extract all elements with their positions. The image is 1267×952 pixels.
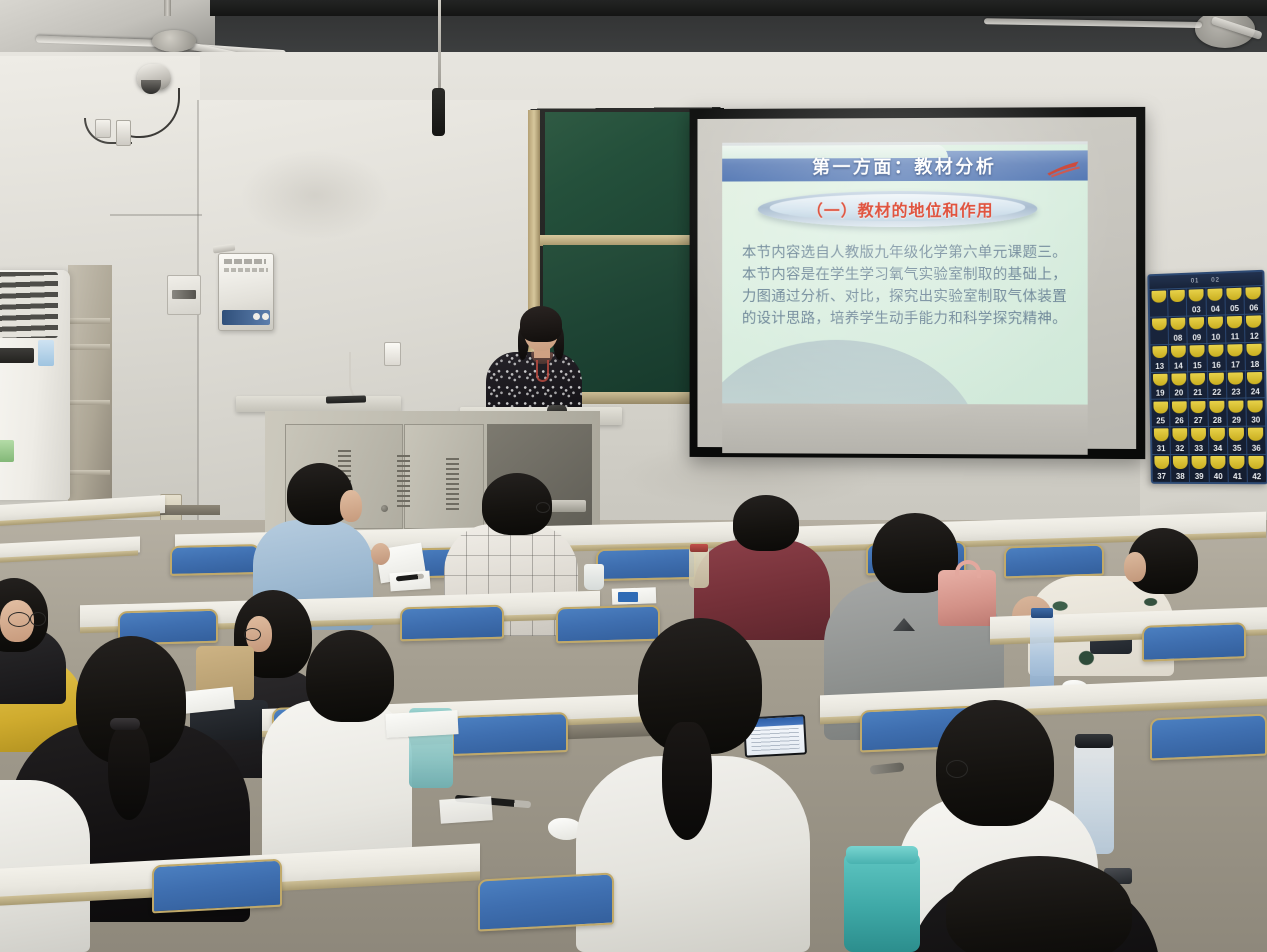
panel-body-text	[224, 268, 268, 272]
ac-energy-label	[38, 340, 54, 366]
screen-pull-handle[interactable]	[432, 88, 445, 136]
auditorium-seat[interactable]	[596, 547, 696, 581]
pocket-cell[interactable]: 04	[1206, 287, 1226, 315]
pocket-cell[interactable]: 18	[1245, 342, 1264, 370]
pocket-icon	[1189, 289, 1204, 302]
pocket-cell[interactable]: 27	[1189, 399, 1208, 426]
pocket-number: 24	[1251, 388, 1260, 398]
student-hair	[733, 495, 799, 551]
wall-junction-box	[116, 120, 131, 146]
pink-handbag[interactable]	[938, 570, 996, 626]
slide-body-text: 本节内容选自人教版九年级化学第六单元课题三。 本节内容是在学生学习氧气实验室制取…	[742, 242, 1074, 331]
panel-indicator-dot	[262, 313, 269, 320]
pocket-icon	[1208, 316, 1223, 329]
auditorium-seat[interactable]	[1150, 714, 1267, 761]
pocket-number: 12	[1250, 331, 1259, 341]
pocket-number: 37	[1157, 472, 1166, 482]
pocket-number: 03	[1192, 305, 1201, 315]
auditorium-seat[interactable]	[1004, 544, 1104, 579]
pocket-number: 28	[1213, 416, 1222, 426]
pocket-icon	[1227, 288, 1242, 301]
podium-remote[interactable]	[326, 395, 366, 403]
pocket-chart-row: 25 26 27 28 29 30	[1151, 398, 1265, 427]
pocket-icon	[1247, 372, 1262, 385]
pocket-icon	[1208, 288, 1223, 301]
screen-lower-blank	[722, 403, 1087, 454]
pocket-number: 30	[1251, 416, 1260, 426]
pocket-cell[interactable]: 11	[1226, 315, 1246, 343]
pocket-icon	[1152, 318, 1167, 331]
pocket-icon	[1229, 428, 1244, 441]
pocket-cell[interactable]: 39	[1190, 455, 1209, 482]
pocket-number: 33	[1194, 444, 1203, 454]
eyeglasses-icon	[946, 760, 968, 778]
pocket-number: 09	[1192, 333, 1201, 343]
pocket-cell[interactable]: 28	[1208, 399, 1228, 426]
pocket-number: 05	[1230, 304, 1239, 314]
bottle-cap	[690, 544, 708, 552]
pocket-number: 27	[1194, 416, 1203, 426]
slide-body-line: 本节内容是在学生学习氧气实验室制取的基础上，	[742, 264, 1074, 286]
student-hair	[306, 630, 394, 722]
slide-subtitle-group: （一）教材的地位和作用	[758, 187, 1038, 230]
pocket-number: 23	[1231, 388, 1240, 398]
student-head	[1124, 552, 1146, 582]
pocket-icon	[1190, 373, 1205, 386]
pocket-icon	[1154, 429, 1169, 441]
pocket-number: 41	[1233, 472, 1242, 482]
pocket-cell[interactable]: 24	[1246, 370, 1265, 397]
pocket-cell[interactable]: 19	[1151, 372, 1170, 399]
pocket-cell[interactable]	[1150, 317, 1169, 344]
auditorium-seat[interactable]	[556, 605, 660, 644]
pocket-cell[interactable]: 35	[1227, 427, 1247, 454]
pocket-cell[interactable]: 12	[1245, 314, 1264, 342]
pocket-cell[interactable]: 30	[1246, 399, 1265, 426]
podium-side-surface	[236, 396, 401, 412]
pocket-icon	[1209, 372, 1224, 385]
phone-pocket-chart: 01 02 03 04 05 06 08 09 10 11 12 13 14 1…	[1147, 270, 1267, 485]
pocket-icon	[1209, 344, 1224, 357]
slide-body-line: 本节内容选自人教版九年级化学第六单元课题三。	[742, 242, 1074, 264]
slide-swoosh-icon	[1045, 159, 1081, 177]
pocket-cell[interactable]: 09	[1187, 316, 1206, 343]
pocket-number: 15	[1193, 361, 1202, 371]
pocket-icon	[1191, 401, 1206, 413]
recess-shelf	[70, 318, 110, 324]
pocket-chart-row: 19 20 21 22 23 24	[1151, 369, 1265, 399]
water-bottle[interactable]	[689, 548, 709, 588]
auditorium-seat[interactable]	[452, 712, 568, 756]
pocket-icon	[1189, 317, 1204, 330]
pocket-cell[interactable]: 15	[1188, 344, 1207, 371]
podium-vent-icon	[446, 458, 459, 510]
slide-subtitle: （一）教材的地位和作用	[776, 197, 1026, 221]
pocket-icon	[1154, 456, 1169, 468]
pocket-number: 10	[1211, 332, 1220, 342]
pocket-icon	[1228, 344, 1243, 357]
pocket-icon	[1153, 401, 1168, 413]
student-hand	[371, 543, 390, 565]
auditorium-seat[interactable]	[400, 605, 504, 642]
pocket-icon	[1190, 345, 1205, 358]
pocket-cell[interactable]: 34	[1208, 427, 1228, 454]
pocket-cell[interactable]: 41	[1228, 455, 1248, 482]
wall-seam	[110, 214, 202, 216]
pocket-icon	[1172, 429, 1187, 441]
pocket-number: 19	[1156, 389, 1165, 399]
pocket-chart-row: 08 09 10 11 12	[1150, 313, 1264, 344]
pocket-icon	[1210, 428, 1225, 440]
presenter-lanyard	[536, 360, 549, 382]
ac-grille-icon	[0, 272, 58, 338]
pocket-cell[interactable]: 13	[1151, 345, 1170, 372]
eyeglasses-icon	[244, 628, 261, 641]
paper-handout[interactable]	[439, 796, 493, 824]
pocket-icon	[1170, 290, 1185, 303]
pocket-chart-row: 31 32 33 34 35 36	[1152, 426, 1266, 454]
teal-thermos[interactable]	[844, 852, 920, 952]
auditorium-seat[interactable]	[170, 544, 260, 576]
pocket-number: 17	[1231, 360, 1240, 370]
pocket-chart-header-mark: 02	[1211, 277, 1220, 283]
slide-body-line: 力图通过分析、对比，探究出实验室制取气体装置	[742, 286, 1074, 308]
pocket-icon	[1152, 346, 1167, 359]
podium-lock[interactable]	[381, 505, 388, 512]
pocket-number: 34	[1213, 444, 1222, 454]
pocket-icon	[1247, 343, 1262, 356]
pocket-icon	[1192, 456, 1207, 468]
eyeglasses-icon	[30, 612, 46, 626]
pocket-number: 26	[1175, 417, 1184, 427]
pocket-number: 31	[1157, 444, 1166, 454]
pocket-number: 04	[1211, 304, 1220, 314]
pocket-cell[interactable]: 36	[1247, 427, 1266, 454]
pocket-icon	[1230, 456, 1245, 468]
auditorium-seat[interactable]	[1142, 622, 1246, 662]
classroom-photo: 第一方面：教材分析 （一）教材的地位和作用 本节内容选自人教版九年级化学第六单元…	[0, 0, 1267, 952]
pocket-cell[interactable]	[1168, 289, 1187, 316]
slide-title-bar: 第一方面：教材分析	[722, 150, 1087, 181]
pocket-number: 36	[1252, 444, 1261, 454]
screen-housing	[210, 0, 1267, 16]
pocket-number: 39	[1195, 472, 1204, 482]
bottle-cap	[1075, 734, 1113, 748]
blackboard-surface-upper	[545, 112, 713, 236]
pocket-icon	[1228, 372, 1243, 385]
projection-screen: 第一方面：教材分析 （一）教材的地位和作用 本节内容选自人教版九年级化学第六单元…	[690, 107, 1146, 459]
pocket-cell[interactable]: 14	[1169, 344, 1188, 371]
podium-vent-icon	[397, 455, 410, 509]
wall-switch-row[interactable]	[172, 290, 196, 299]
auditorium-seat[interactable]	[152, 859, 282, 914]
pocket-cell[interactable]: 16	[1207, 343, 1227, 370]
slide-decorative-curve	[722, 340, 981, 405]
pocket-number: 40	[1214, 472, 1223, 482]
panel-indicator-dot	[253, 313, 260, 320]
pocket-cell[interactable]: 42	[1247, 455, 1266, 482]
hair-tie-icon	[110, 718, 140, 730]
slide-title: 第一方面：教材分析	[812, 153, 996, 180]
pocket-icon	[1248, 400, 1263, 413]
pocket-icon	[1171, 373, 1186, 386]
paper-handout[interactable]	[389, 571, 430, 592]
pocket-icon	[1191, 428, 1206, 440]
pocket-cell[interactable]	[1150, 289, 1169, 316]
pocket-number: 13	[1155, 361, 1164, 371]
pocket-cell[interactable]: 06	[1244, 286, 1263, 314]
auditorium-seat[interactable]	[478, 872, 614, 931]
pocket-cell[interactable]: 33	[1189, 427, 1208, 454]
pocket-icon	[1173, 456, 1188, 468]
pocket-cell[interactable]: 31	[1152, 428, 1171, 455]
pocket-icon	[1227, 316, 1242, 329]
pocket-icon	[1210, 456, 1225, 468]
paper-handout[interactable]	[385, 710, 458, 738]
pocket-icon	[1171, 345, 1186, 358]
pocket-cell[interactable]: 37	[1152, 455, 1171, 482]
pocket-chart-row: 37 38 39 40 41 42	[1152, 454, 1266, 482]
pocket-cell[interactable]: 03	[1187, 288, 1206, 315]
wall-smudge	[240, 150, 390, 240]
screen-pull-cord[interactable]	[438, 0, 441, 92]
pocket-icon	[1170, 318, 1185, 331]
pocket-icon	[1246, 287, 1261, 300]
pocket-number: 35	[1232, 444, 1241, 454]
pocket-number: 11	[1231, 332, 1240, 342]
pocket-number: 21	[1193, 389, 1202, 399]
pocket-icon	[1151, 291, 1166, 304]
pocket-number: 22	[1212, 388, 1221, 398]
wall-socket[interactable]	[95, 119, 111, 138]
pocket-number: 08	[1173, 333, 1182, 343]
bottle-cap	[1031, 608, 1053, 618]
eyeglasses-icon	[8, 612, 30, 627]
slide-content: 第一方面：教材分析 （一）教材的地位和作用 本节内容选自人教版九年级化学第六单元…	[722, 144, 1087, 404]
podium-door-right[interactable]	[404, 424, 484, 529]
pocket-icon	[1248, 428, 1263, 441]
recess-shelf	[70, 344, 110, 350]
pocket-cell[interactable]: 29	[1227, 399, 1247, 426]
pocket-number: 25	[1156, 417, 1165, 427]
pocket-chart-row: 03 04 05 06	[1150, 285, 1264, 317]
pocket-icon	[1172, 401, 1187, 413]
panel-title-text	[224, 259, 266, 264]
recess-shelf	[70, 470, 110, 475]
paper-label	[618, 592, 638, 602]
pocket-cell[interactable]: 05	[1225, 287, 1245, 315]
pocket-number: 18	[1250, 359, 1259, 369]
pocket-number: 20	[1174, 389, 1183, 399]
pocket-number: 16	[1212, 360, 1221, 370]
ponytail	[108, 724, 150, 820]
pocket-number: 42	[1252, 472, 1261, 482]
student-head	[340, 490, 362, 522]
recess-shelf	[70, 400, 110, 405]
pocket-icon	[1153, 373, 1168, 385]
pocket-cell[interactable]: 10	[1206, 315, 1226, 342]
pocket-cell[interactable]: 22	[1207, 371, 1227, 398]
thermos-cap	[846, 846, 918, 864]
pocket-number: 06	[1249, 303, 1258, 313]
ponytail	[662, 722, 712, 840]
pocket-cell[interactable]: 40	[1209, 455, 1229, 482]
pocket-chart-row: 13 14 15 16 17 18	[1150, 341, 1264, 371]
slide-body-line: 的设计思路，培养学生动手能力和科学探究精神。	[742, 308, 1074, 330]
pocket-number: 38	[1176, 472, 1185, 482]
pocket-number: 14	[1174, 361, 1183, 371]
pocket-cell[interactable]: 23	[1227, 371, 1247, 398]
pocket-cell[interactable]: 08	[1169, 316, 1188, 343]
ac-display-panel[interactable]	[0, 348, 34, 363]
ac-sticker	[0, 440, 14, 462]
pocket-cell[interactable]: 38	[1171, 455, 1190, 482]
pocket-cell[interactable]: 26	[1170, 400, 1189, 427]
pocket-number: 29	[1232, 416, 1241, 426]
pocket-cell[interactable]: 17	[1226, 343, 1246, 370]
eyeglasses-icon	[536, 502, 550, 513]
pocket-number: 32	[1175, 444, 1184, 454]
pocket-cell[interactable]: 25	[1151, 400, 1170, 427]
phone-content-lines	[750, 728, 800, 752]
paper-cup[interactable]	[584, 564, 604, 590]
water-bottle[interactable]	[1030, 614, 1054, 694]
presenter-hair	[520, 306, 562, 342]
pocket-icon	[1249, 456, 1264, 468]
pocket-icon	[1246, 315, 1261, 328]
pocket-cell[interactable]: 21	[1188, 372, 1207, 399]
pocket-icon	[1229, 400, 1244, 413]
wall-outlet[interactable]	[384, 342, 401, 366]
pocket-cell[interactable]: 20	[1170, 372, 1189, 399]
pocket-icon	[1210, 400, 1225, 413]
pocket-chart-header-mark: 01	[1191, 278, 1200, 284]
pocket-cell[interactable]: 32	[1171, 427, 1190, 454]
doorway-recess	[68, 265, 112, 505]
